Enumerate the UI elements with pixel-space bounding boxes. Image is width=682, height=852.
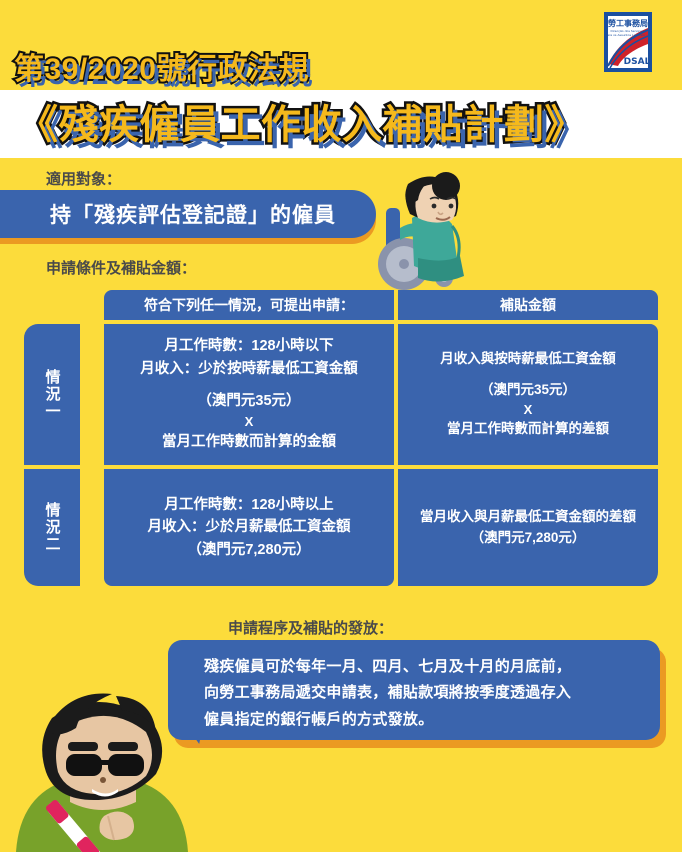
cell-line: 月收入與按時薪最低工資金額 [440, 349, 616, 370]
subsidy-table: 符合下列任一情況，可提出申請： 補貼金額 情況一 情況二 月工作時數：128小時… [24, 290, 658, 586]
wheelchair-user-illustration [372, 166, 492, 292]
svg-text:勞工事務局: 勞工事務局 [608, 18, 648, 28]
svg-text:DSAL: DSAL [624, 57, 650, 67]
page-title-line1: 第39/2020號行政法規 [14, 44, 309, 88]
wheelchair-user-svg [372, 166, 492, 292]
table-header-condition: 符合下列任一情況，可提出申請： [104, 290, 394, 320]
cell-tail: 當月工作時數而計算的差額 [447, 419, 609, 440]
cell-tail: 當月工作時數而計算的金額 [162, 431, 336, 453]
infographic-poster: 勞工事務局 Direcção dos Serviços para os Assu… [0, 0, 682, 852]
cell-line: 月收入：少於按時薪最低工資金額 [140, 358, 358, 380]
procedure-label: 申請程序及補貼的發放： [228, 617, 393, 638]
cell-line: （澳門元7,280元） [471, 528, 586, 549]
procedure-text-line2: 向勞工事務局遞交申請表，補貼款項將按季度透過存入 [204, 680, 642, 706]
blind-man-svg [0, 690, 248, 852]
table-row-label-2: 情況二 [24, 469, 80, 586]
target-audience-value: 持「殘疾評估登記證」的僱員 [50, 199, 336, 229]
dsal-logo: 勞工事務局 Direcção dos Serviços para os Assu… [604, 12, 652, 72]
table-row-label-1: 情況一 [24, 324, 80, 465]
cell-amount: （澳門元35元） [480, 380, 576, 401]
target-audience-pill: 持「殘疾評估登記證」的僱員 [0, 190, 376, 238]
blind-man-with-cane-illustration [0, 690, 248, 852]
table-row: 月工作時數：128小時以下 月收入：少於按時薪最低工資金額 （澳門元35元） X… [104, 324, 394, 465]
table-row: 當月收入與月薪最低工資金額的差額 （澳門元7,280元） [398, 469, 658, 586]
cell-line: 月收入：少於月薪最低工資金額 [148, 516, 351, 538]
table-header-row: 符合下列任一情況，可提出申請： 補貼金額 [104, 290, 658, 320]
procedure-text-line1: 殘疾僱員可於每年一月、四月、七月及十月的月底前， [204, 654, 642, 680]
table-row: 月收入與按時薪最低工資金額 （澳門元35元） X 當月工作時數而計算的差額 [398, 324, 658, 465]
cell-line: 月工作時數：128小時以下 [164, 335, 333, 357]
procedure-text-line3: 僱員指定的銀行帳戶的方式發放。 [204, 707, 642, 733]
table-grid: 月工作時數：128小時以下 月收入：少於按時薪最低工資金額 （澳門元35元） X… [84, 324, 658, 586]
cell-line: 當月收入與月薪最低工資金額的差額 [420, 507, 636, 528]
cell-line: 月工作時數：128小時以上 [164, 494, 333, 516]
dsal-logo-mark: 勞工事務局 Direcção dos Serviços para os Assu… [606, 14, 650, 70]
cell-operator: X [245, 413, 254, 431]
target-audience-label: 適用對象： [46, 168, 121, 189]
table-row: 月工作時數：128小時以上 月收入：少於月薪最低工資金額 （澳門元7,280元） [104, 469, 394, 586]
conditions-label: 申請條件及補貼金額： [46, 257, 196, 278]
cell-amount: （澳門元35元） [197, 390, 300, 412]
table-side-column: 情況一 情況二 [24, 324, 80, 586]
table-body: 情況一 情況二 月工作時數：128小時以下 月收入：少於按時薪最低工資金額 （澳… [24, 324, 658, 586]
page-title-line2: 《殘疾僱員工作收入補貼計劃》 [18, 92, 585, 150]
cell-line: （澳門元7,280元） [187, 539, 310, 561]
table-header-subsidy: 補貼金額 [398, 290, 658, 320]
cell-operator: X [524, 401, 533, 419]
svg-text:para os Assuntos Laborais: para os Assuntos Laborais [606, 33, 645, 37]
